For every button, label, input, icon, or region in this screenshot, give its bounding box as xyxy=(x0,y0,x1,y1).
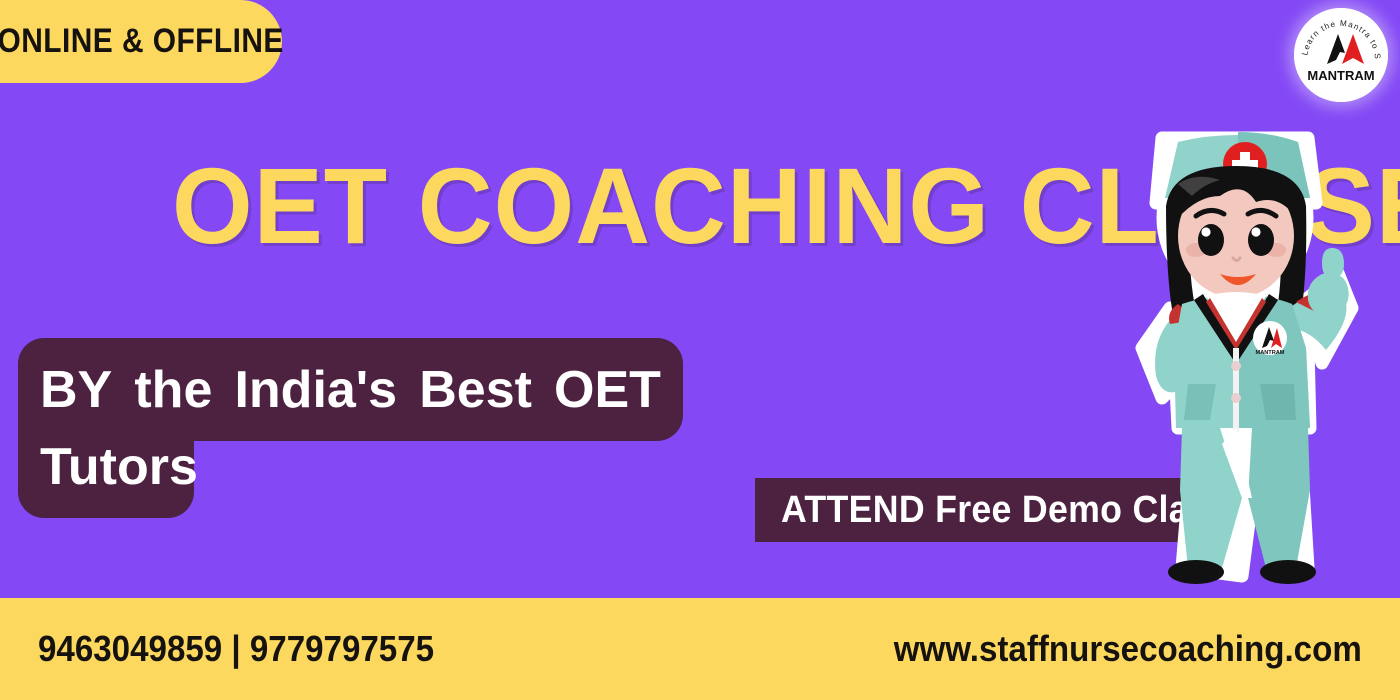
subtitle-word-best: Best xyxy=(419,364,532,416)
svg-text:MANTRAM: MANTRAM xyxy=(1256,350,1285,356)
attend-demo-class-bar[interactable]: ATTEND Free Demo Class xyxy=(755,478,1209,542)
footer-website[interactable]: www.staffnursecoaching.com xyxy=(894,628,1362,670)
nurse-uniform: MANTRAM xyxy=(1174,292,1310,432)
footer-bar: 9463049859 | 9779797575 www.staffnurseco… xyxy=(0,598,1400,700)
subtitle-line-2: Tutors xyxy=(18,439,194,518)
attend-demo-class-label: ATTEND Free Demo Class xyxy=(781,489,1229,532)
subtitle-word-tutors: Tutors xyxy=(40,441,198,493)
uniform-pocket-right xyxy=(1260,384,1296,420)
online-offline-badge-label: ONLINE & OFFLINE xyxy=(0,22,284,61)
uniform-mantram-badge xyxy=(1253,321,1287,355)
uniform-pocket-left xyxy=(1184,384,1216,420)
subtitle-word-by: BY xyxy=(40,364,112,416)
page-title: OET COACHING CLASSES xyxy=(172,152,1400,260)
subtitle-word-oet: OET xyxy=(554,364,661,416)
subtitle-word-indias: India's xyxy=(234,364,397,416)
footer-phone-numbers[interactable]: 9463049859 | 9779797575 xyxy=(38,628,434,670)
nurse-shoe-right xyxy=(1260,560,1316,584)
logo-brand-text: MANTRAM xyxy=(1307,68,1374,83)
online-offline-badge: ONLINE & OFFLINE xyxy=(0,0,282,83)
subtitle-line-1: BY the India's Best OET xyxy=(18,338,683,441)
promotional-banner: ONLINE & OFFLINE Learn the Mantra to Suc… xyxy=(0,0,1400,700)
nurse-shoe-left xyxy=(1168,560,1224,584)
subtitle-block: BY the India's Best OET Tutors xyxy=(18,338,683,518)
nurse-mouth xyxy=(1220,274,1256,285)
subtitle-word-the: the xyxy=(134,364,212,416)
nurse-arms xyxy=(1155,248,1349,392)
mantram-logo: Learn the Mantra to Success MANTRAM xyxy=(1294,8,1388,102)
mantram-logo-svg: Learn the Mantra to Success MANTRAM xyxy=(1294,8,1388,102)
nurse-thumbs-up-hand xyxy=(1308,273,1349,314)
